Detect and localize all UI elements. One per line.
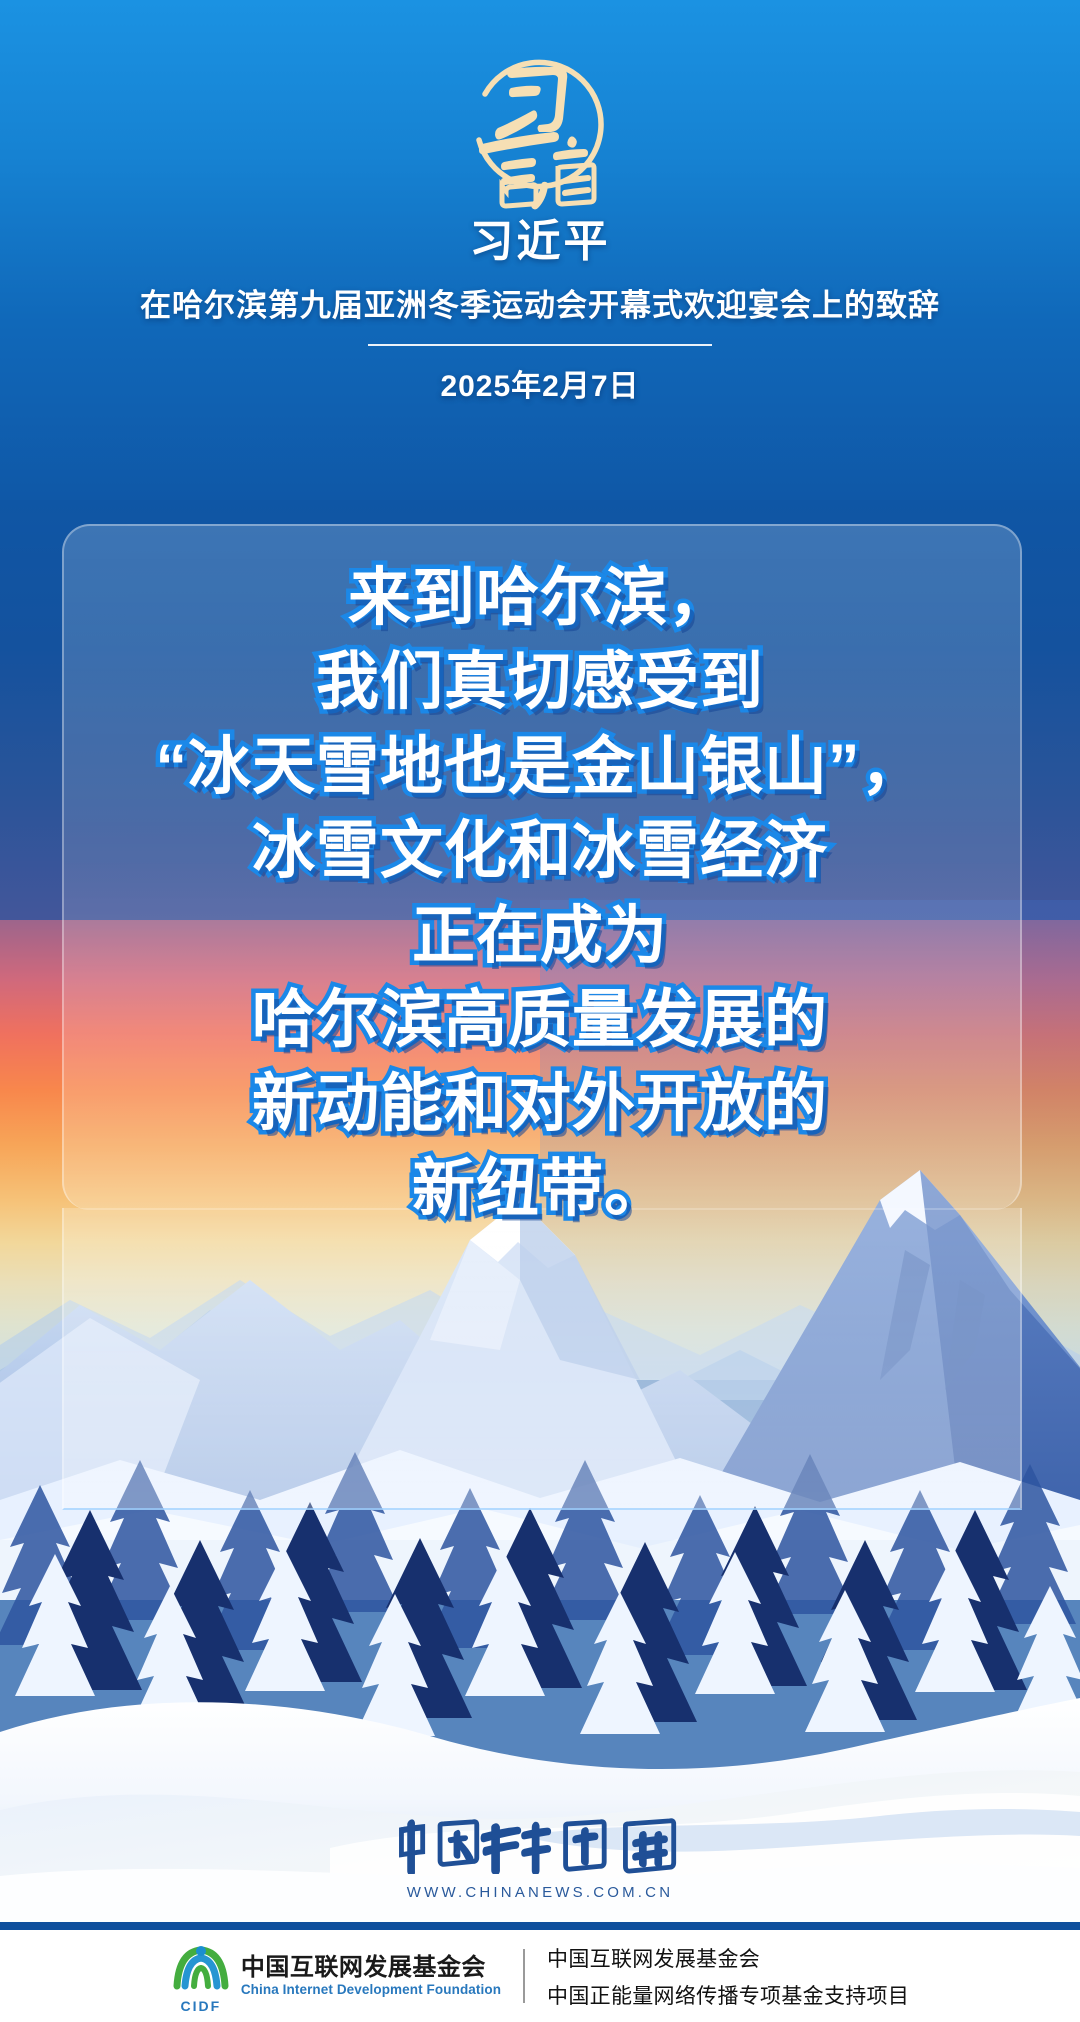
quote-card-panel-lower	[62, 1208, 1022, 1510]
footer-divider	[523, 1949, 525, 2003]
footer-line-1: 中国互联网发展基金会	[547, 1943, 909, 1973]
cidf-abbreviation: CIDF	[180, 1998, 221, 2014]
chinanews-logo: WWW.CHINANEWS.COM.CN	[0, 1818, 1080, 1901]
xi-yan-dao-seal-icon	[452, 36, 628, 212]
cidf-logo-block: CIDF 中国互联网发展基金会 China Internet Developme…	[171, 1938, 501, 2014]
speech-occasion: 在哈尔滨第九届亚洲冬季运动会开幕式欢迎宴会上的致辞	[0, 280, 1080, 325]
cidf-fan-icon	[171, 1938, 231, 1996]
footer-line-2: 中国正能量网络传播专项基金支持项目	[547, 1980, 909, 2010]
sponsor-footer: CIDF 中国互联网发展基金会 China Internet Developme…	[0, 1930, 1080, 2022]
header-divider	[368, 344, 712, 346]
chinanews-url: WWW.CHINANEWS.COM.CN	[0, 1884, 1080, 1901]
poster-header: 习近平 在哈尔滨第九届亚洲冬季运动会开幕式欢迎宴会上的致辞 2025年2月7日	[0, 218, 1080, 405]
cidf-name-cn: 中国互联网发展基金会	[241, 1955, 501, 1980]
footer-text-block: 中国互联网发展基金会 中国正能量网络传播专项基金支持项目	[547, 1943, 909, 2010]
chinanews-wordmark-icon	[386, 1818, 695, 1874]
speaker-name: 习近平	[0, 218, 1080, 266]
poster-canvas: 习近平 在哈尔滨第九届亚洲冬季运动会开幕式欢迎宴会上的致辞 2025年2月7日 …	[0, 0, 1080, 2022]
cidf-name-en: China Internet Development Foundation	[241, 1983, 501, 1997]
speech-date: 2025年2月7日	[0, 361, 1080, 405]
quote-card-panel-upper	[62, 524, 1022, 1210]
